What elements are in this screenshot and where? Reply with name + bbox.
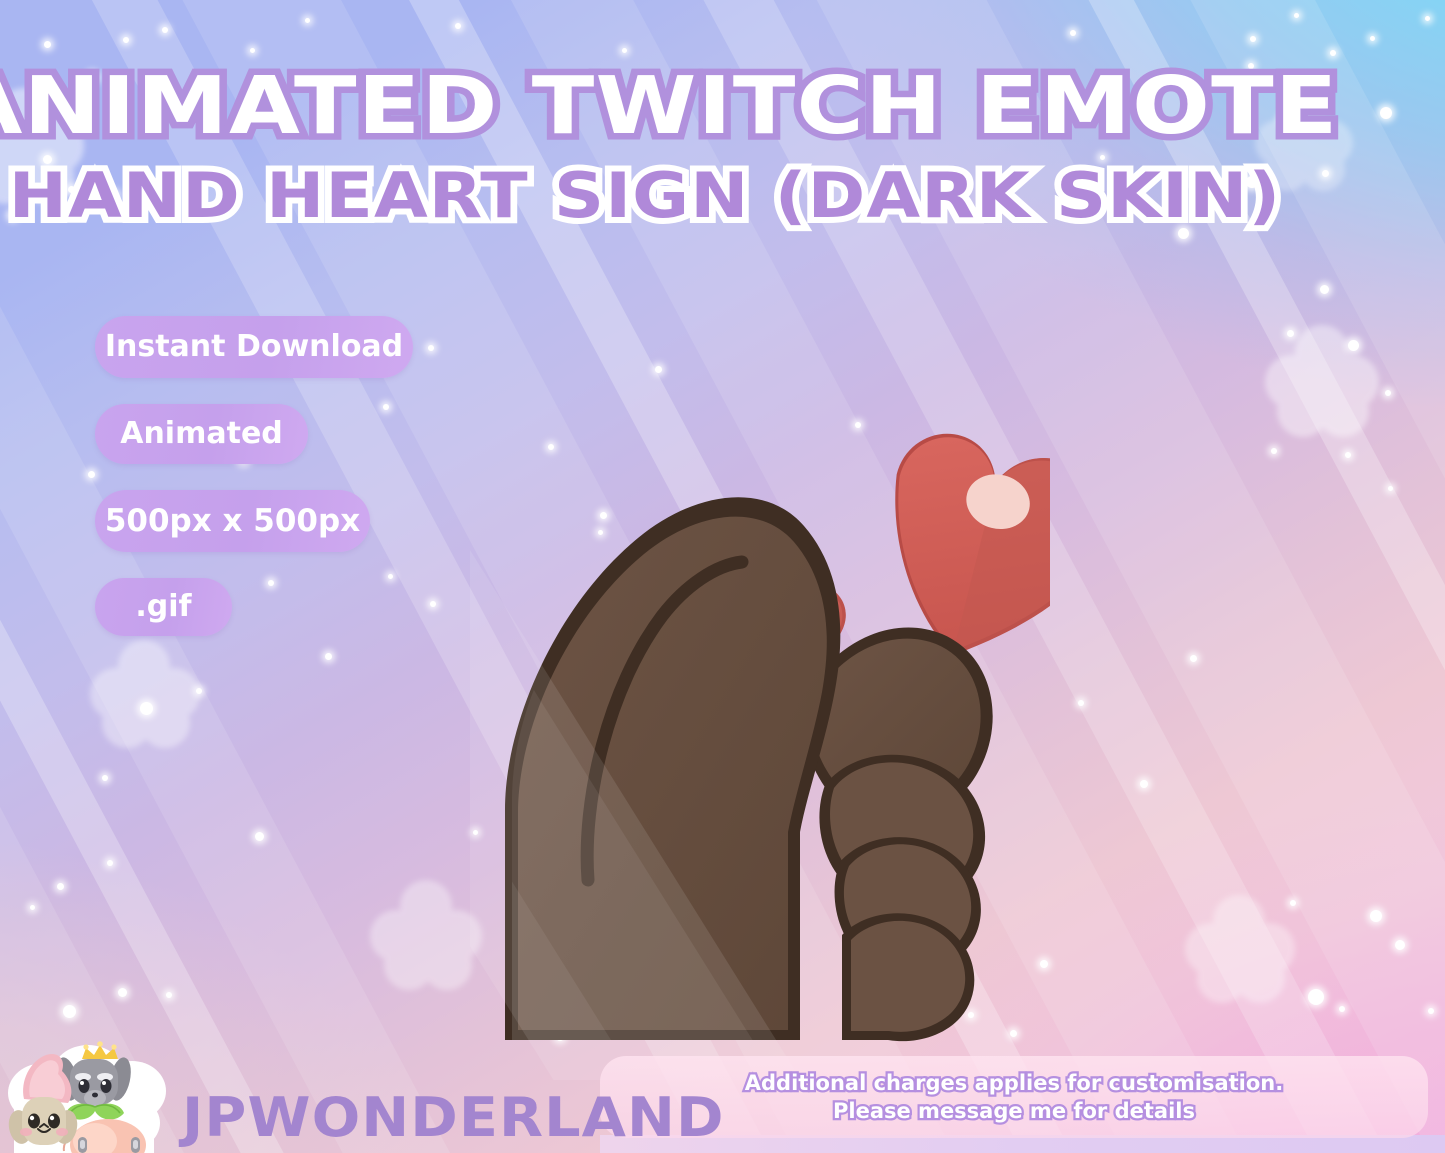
- sparkle: [1330, 50, 1336, 56]
- page-subtitle: Hand Heart Sign (Dark Skin): [0, 163, 1367, 228]
- sparkle: [162, 27, 168, 33]
- sparkle: [1190, 655, 1197, 662]
- page-title: Animated Twitch Emote: [0, 66, 1393, 147]
- sparkle: [118, 988, 127, 997]
- sparkle: [1078, 700, 1084, 706]
- sparkle: [30, 905, 35, 910]
- sparkle: [1345, 452, 1351, 458]
- sparkle: [166, 992, 172, 998]
- sparkle: [1370, 910, 1382, 922]
- sparkle: [57, 883, 64, 890]
- sparkle: [255, 832, 264, 841]
- flower-shape-top-right: [1265, 325, 1387, 441]
- brand-name: JPWonderland: [182, 1086, 725, 1149]
- sparkle: [1348, 340, 1359, 351]
- feature-badge-list: Instant Download Animated 500px x 500px …: [95, 316, 413, 636]
- emote-listing-graphic: Animated Twitch Emote Hand Heart Sign (D…: [0, 0, 1445, 1153]
- badge-animated: Animated: [95, 404, 308, 464]
- sparkle: [430, 601, 436, 607]
- sparkle: [1287, 330, 1294, 337]
- badge-file-format: .gif: [95, 578, 232, 636]
- sparkle: [63, 1005, 76, 1018]
- sparkle: [102, 775, 108, 781]
- sparkle: [1395, 940, 1405, 950]
- badge-dimensions: 500px x 500px: [95, 490, 370, 552]
- flower-shape-right: [1185, 895, 1303, 1007]
- sparkle: [305, 18, 310, 23]
- sparkle: [123, 37, 129, 43]
- sparkle: [1320, 285, 1329, 294]
- sparkle: [1290, 900, 1296, 906]
- sparkle: [1294, 13, 1299, 18]
- badge-instant-download: Instant Download: [95, 316, 413, 378]
- sparkle: [1385, 390, 1391, 396]
- sparkle: [1428, 1008, 1434, 1014]
- sparkle: [196, 688, 202, 694]
- emote-artwork-hand-heart: [470, 280, 1050, 1080]
- sparkle: [1308, 989, 1324, 1005]
- sparkle: [455, 23, 461, 29]
- sparkle: [428, 345, 434, 351]
- sparkle: [1070, 30, 1076, 36]
- note-line-2: Please message me for details: [833, 1097, 1195, 1125]
- sparkle: [140, 702, 153, 715]
- badge-label: 500px x 500px: [105, 490, 360, 552]
- badge-label: .gif: [135, 578, 191, 636]
- note-line-1: Additional charges applies for customisa…: [745, 1069, 1283, 1097]
- sparkle: [44, 41, 51, 48]
- brand-block: JPWonderland: [0, 1041, 694, 1153]
- sparkle: [1339, 1006, 1345, 1012]
- sparkle: [107, 860, 113, 866]
- title-block: Animated Twitch Emote Hand Heart Sign (D…: [0, 66, 1290, 228]
- sparkle: [1271, 448, 1277, 454]
- sparkle: [1250, 36, 1256, 42]
- badge-label: Instant Download: [105, 316, 403, 378]
- flower-shape-left: [90, 640, 208, 752]
- sparkle: [325, 653, 332, 660]
- sparkle: [88, 471, 95, 478]
- sparkle: [250, 48, 255, 53]
- brand-mascot-logo: [0, 1041, 190, 1153]
- badge-label: Animated: [120, 404, 283, 464]
- sparkle: [1425, 16, 1430, 21]
- sparkle: [622, 48, 627, 53]
- sparkle: [1140, 780, 1148, 788]
- sparkle: [1388, 486, 1393, 491]
- sparkle: [1370, 36, 1375, 41]
